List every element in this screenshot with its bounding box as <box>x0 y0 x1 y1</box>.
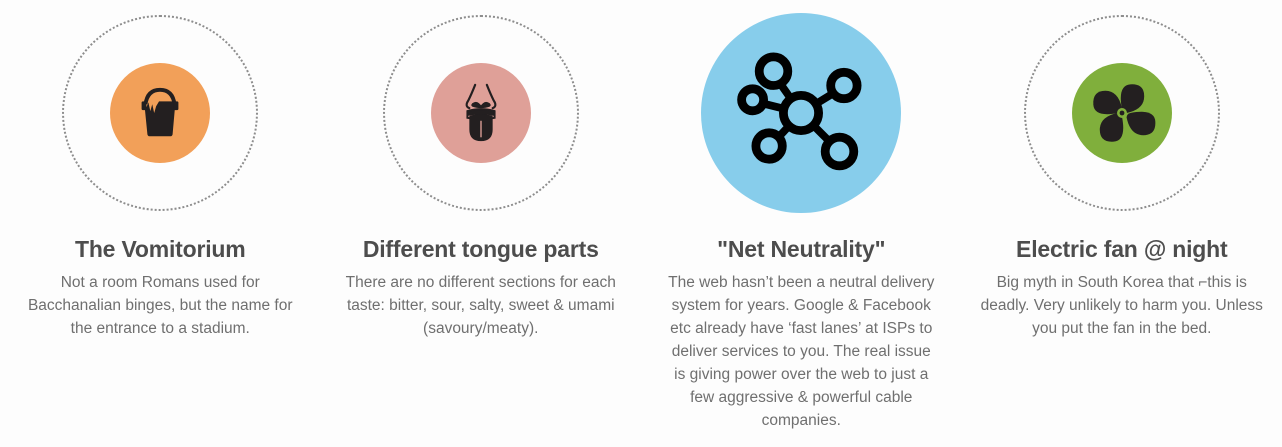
icon-medallion <box>691 0 911 226</box>
icon-disc <box>431 63 531 163</box>
card-body: There are no different sections for each… <box>321 272 642 341</box>
card-title: "Net Neutrality" <box>717 237 885 262</box>
bucket-icon <box>129 82 191 144</box>
card-different-tongue-parts: Different tongue parts There are no diff… <box>321 0 642 341</box>
icon-disc <box>110 63 210 163</box>
card-the-vomitorium: The Vomitorium Not a room Romans used fo… <box>0 0 321 341</box>
card-title: Different tongue parts <box>363 237 599 262</box>
card-title: The Vomitorium <box>75 237 246 262</box>
card-body: The web hasn’t been a neutral delivery s… <box>641 272 962 433</box>
network-hub-icon <box>735 47 867 179</box>
nose-tongue-icon <box>449 79 513 147</box>
icon-disc <box>701 13 901 213</box>
card-net-neutrality: "Net Neutrality" The web hasn’t been a n… <box>641 0 962 433</box>
myth-card-row: The Vomitorium Not a room Romans used fo… <box>0 0 1282 447</box>
icon-medallion <box>371 0 591 226</box>
icon-disc <box>1072 63 1172 163</box>
card-electric-fan-at-night: Electric fan @ night Big myth in South K… <box>962 0 1282 341</box>
card-body: Big myth in South Korea that ⌐this is de… <box>962 272 1282 341</box>
electric-fan-icon <box>1085 76 1159 150</box>
icon-medallion <box>1012 0 1232 226</box>
icon-medallion <box>50 0 270 226</box>
card-body: Not a room Romans used for Bacchanalian … <box>0 272 321 341</box>
card-title: Electric fan @ night <box>1016 237 1227 262</box>
